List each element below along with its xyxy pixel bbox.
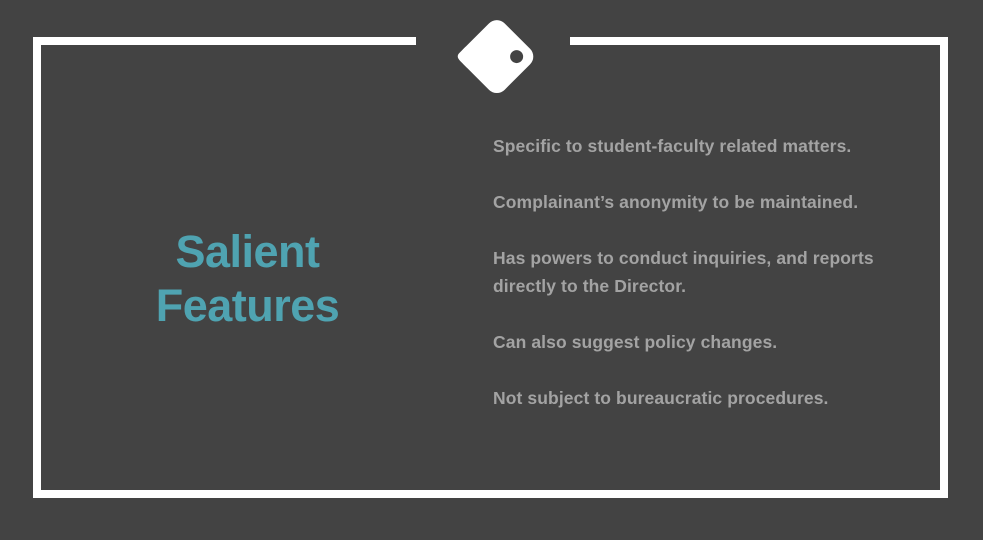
list-item: Specific to student-faculty related matt…	[493, 132, 923, 160]
page-title: Salient Features	[60, 225, 435, 333]
list-item: Has powers to conduct inquiries, and rep…	[493, 244, 923, 300]
frame-border-left	[33, 37, 41, 498]
features-list: Specific to student-faculty related matt…	[493, 132, 923, 412]
frame-border-top-left	[33, 37, 416, 45]
slide-canvas: Salient Features Specific to student-fac…	[0, 0, 983, 540]
page-title-line-1: Salient	[60, 225, 435, 279]
frame-border-bottom	[33, 490, 948, 498]
tag-icon	[440, 4, 548, 112]
list-item: Complainant’s anonymity to be maintained…	[493, 188, 923, 216]
list-item: Not subject to bureaucratic procedures.	[493, 384, 923, 412]
list-item: Can also suggest policy changes.	[493, 328, 923, 356]
page-title-line-2: Features	[60, 279, 435, 333]
frame-border-right	[940, 37, 948, 498]
frame-border-top-right	[570, 37, 948, 45]
